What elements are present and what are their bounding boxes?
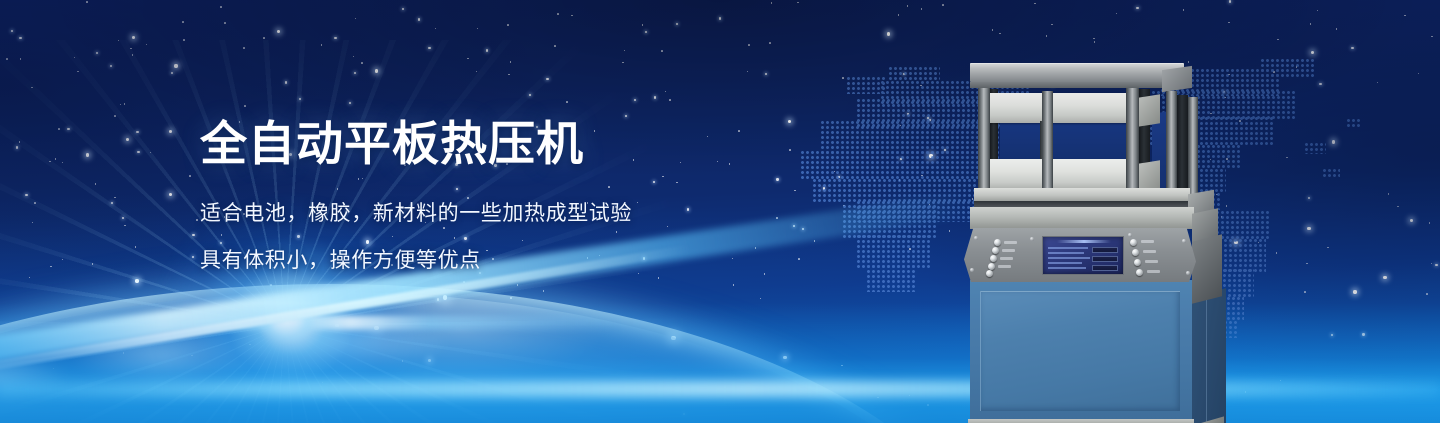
lcd-row <box>1048 247 1088 249</box>
guide-post <box>978 88 990 201</box>
cabinet-side-seam <box>1206 299 1207 423</box>
top-crossbeam-edge <box>970 82 1184 88</box>
control-button[interactable] <box>1136 269 1143 276</box>
guide-post <box>1177 95 1188 203</box>
control-button-label <box>1147 270 1160 273</box>
guide-post <box>1042 91 1053 199</box>
lcd-row <box>1048 257 1090 259</box>
lcd-row <box>1048 262 1082 264</box>
control-button[interactable] <box>988 263 995 270</box>
control-panel-side <box>1192 234 1222 303</box>
control-button-label <box>1145 260 1158 263</box>
control-button[interactable] <box>1134 259 1141 266</box>
lcd-value-field <box>1092 247 1118 253</box>
lcd-title-bar <box>1057 240 1111 243</box>
panel-screw <box>974 236 978 240</box>
control-button[interactable] <box>990 255 997 262</box>
top-crossbeam <box>970 63 1184 82</box>
control-button-label <box>1002 249 1015 252</box>
control-button[interactable] <box>1130 239 1137 246</box>
banner-copy: 全自动平板热压机 适合电池，橡胶，新材料的一些加热成型试验 具有体积小，操作方便… <box>200 118 820 284</box>
control-button[interactable] <box>992 247 999 254</box>
subtitle-line-2: 具有体积小，操作方便等优点 <box>200 237 820 284</box>
lower-platen <box>990 159 1138 189</box>
lcd-row <box>1048 252 1084 254</box>
panel-screw <box>1030 237 1034 241</box>
lcd-screen <box>1042 236 1124 275</box>
panel-screw <box>970 268 974 272</box>
top-crossbeam-side <box>1162 66 1192 92</box>
product-image-hot-press-machine <box>930 55 1230 410</box>
control-button-label <box>1000 257 1013 260</box>
control-button[interactable] <box>994 239 1001 246</box>
guide-post <box>1126 88 1139 204</box>
lcd-value-field <box>1092 265 1118 271</box>
control-button-label <box>998 265 1011 268</box>
guide-post <box>1166 91 1177 203</box>
press-opening <box>1000 123 1136 161</box>
control-button-label <box>1004 241 1017 244</box>
lcd-value-field <box>1092 256 1118 262</box>
control-button-label <box>1143 250 1156 253</box>
panel-screw <box>1182 239 1186 243</box>
panel-screw <box>1128 233 1132 237</box>
bed-plate <box>974 188 1190 201</box>
upper-platen-side <box>1138 94 1160 126</box>
bed-plate-thick <box>970 207 1194 229</box>
base-plinth <box>968 419 1194 423</box>
control-button[interactable] <box>986 270 993 277</box>
hero-banner: 全自动平板热压机 适合电池，橡胶，新材料的一些加热成型试验 具有体积小，操作方便… <box>0 0 1440 423</box>
upper-platen <box>990 93 1138 123</box>
page-title: 全自动平板热压机 <box>200 118 820 172</box>
cabinet-door <box>980 291 1180 411</box>
control-button[interactable] <box>1132 249 1139 256</box>
lcd-row <box>1048 267 1086 269</box>
cabinet-side-panel <box>1192 288 1226 423</box>
panel-screw <box>1186 271 1190 275</box>
subtitle-line-1: 适合电池，橡胶，新材料的一些加热成型试验 <box>200 190 820 237</box>
control-button-label <box>1141 240 1154 243</box>
